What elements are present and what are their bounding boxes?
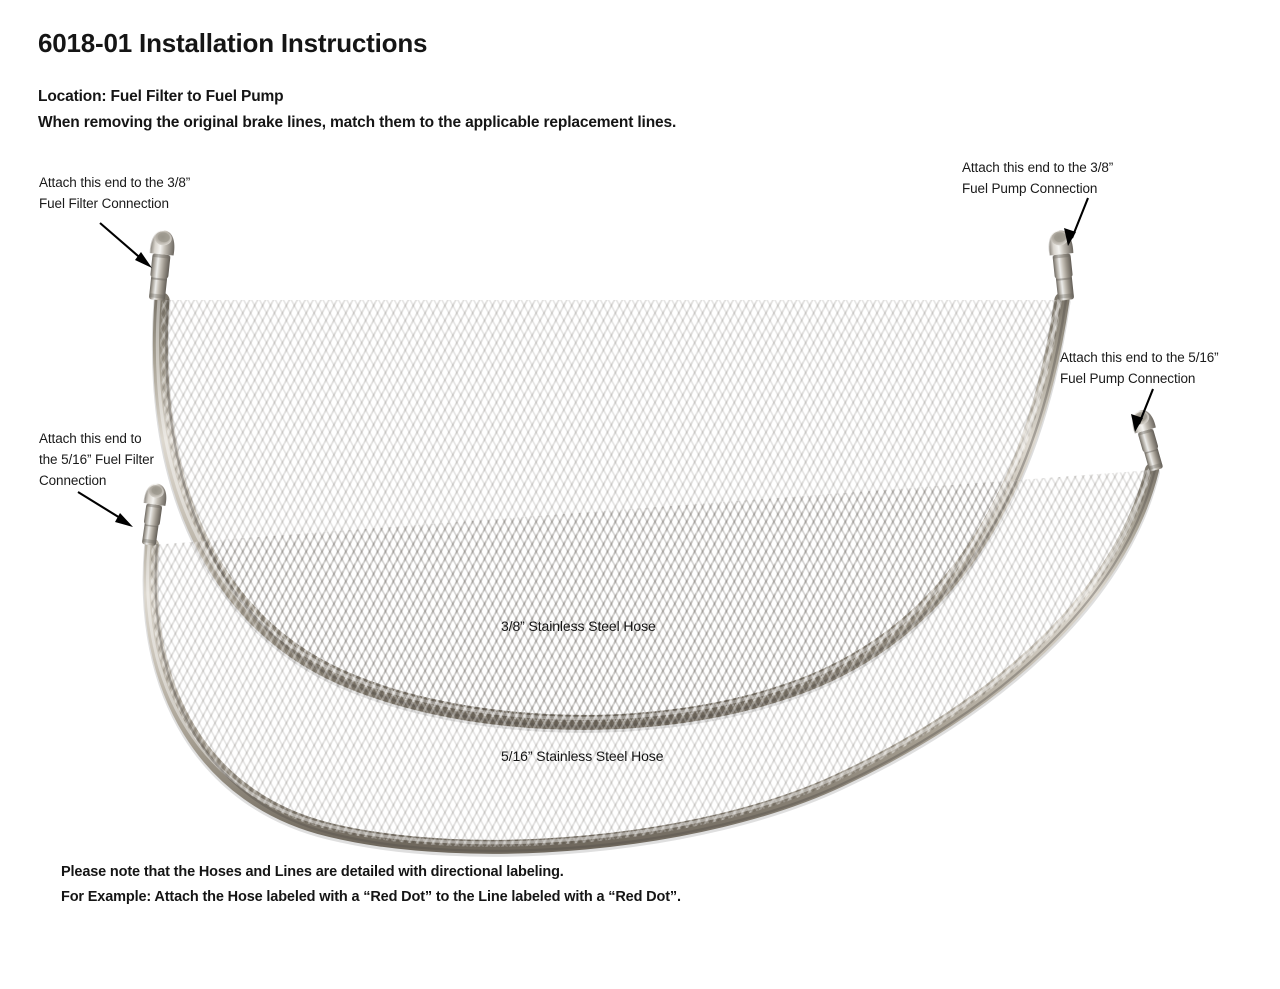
footer-note-line-2: For Example: Attach the Hose labeled wit… — [61, 889, 681, 905]
hose-38-graphic — [100, 250, 1160, 810]
fitting-516-right — [1129, 407, 1168, 473]
callout-line-3: Connection — [39, 470, 209, 491]
arrow-top-right — [1064, 198, 1088, 246]
callout-516-fuel-pump: Attach this end to the 5/16” Fuel Pump C… — [1060, 347, 1219, 389]
hose-label-38: 3/8” Stainless Steel Hose — [501, 618, 656, 634]
hose-label-516: 5/16” Stainless Steel Hose — [501, 748, 663, 764]
arrow-top-left — [100, 223, 152, 268]
arrow-middle-left — [78, 492, 133, 527]
page-title: 6018-01 Installation Instructions — [38, 28, 427, 59]
hose-516-graphic — [100, 440, 1190, 890]
fitting-38-right — [1047, 229, 1078, 301]
callout-516-fuel-filter: Attach this end to the 5/16” Fuel Filter… — [39, 428, 209, 491]
instruction-sheet: 6018-01 Installation Instructions Locati… — [0, 0, 1280, 989]
fitting-516-left — [138, 482, 169, 547]
callout-line-2: Fuel Pump Connection — [1060, 368, 1219, 389]
callout-line-1: Attach this end to — [39, 428, 209, 449]
callout-line-2: Fuel Filter Connection — [39, 193, 190, 214]
subtitle-location: Location: Fuel Filter to Fuel Pump — [38, 88, 283, 106]
callout-line-2: the 5/16” Fuel Filter — [39, 449, 209, 470]
subtitle-instruction: When removing the original brake lines, … — [38, 114, 676, 132]
hose-diagram — [0, 0, 1280, 989]
footer-note-line-1: Please note that the Hoses and Lines are… — [61, 864, 564, 880]
callout-38-fuel-pump: Attach this end to the 3/8” Fuel Pump Co… — [962, 157, 1113, 199]
callout-38-fuel-filter: Attach this end to the 3/8” Fuel Filter … — [39, 172, 190, 214]
fitting-38-left — [145, 229, 176, 301]
callout-line-1: Attach this end to the 3/8” — [39, 172, 190, 193]
callout-line-2: Fuel Pump Connection — [962, 178, 1113, 199]
callout-line-1: Attach this end to the 5/16” — [1060, 347, 1219, 368]
arrow-middle-right — [1131, 389, 1153, 432]
callout-line-1: Attach this end to the 3/8” — [962, 157, 1113, 178]
